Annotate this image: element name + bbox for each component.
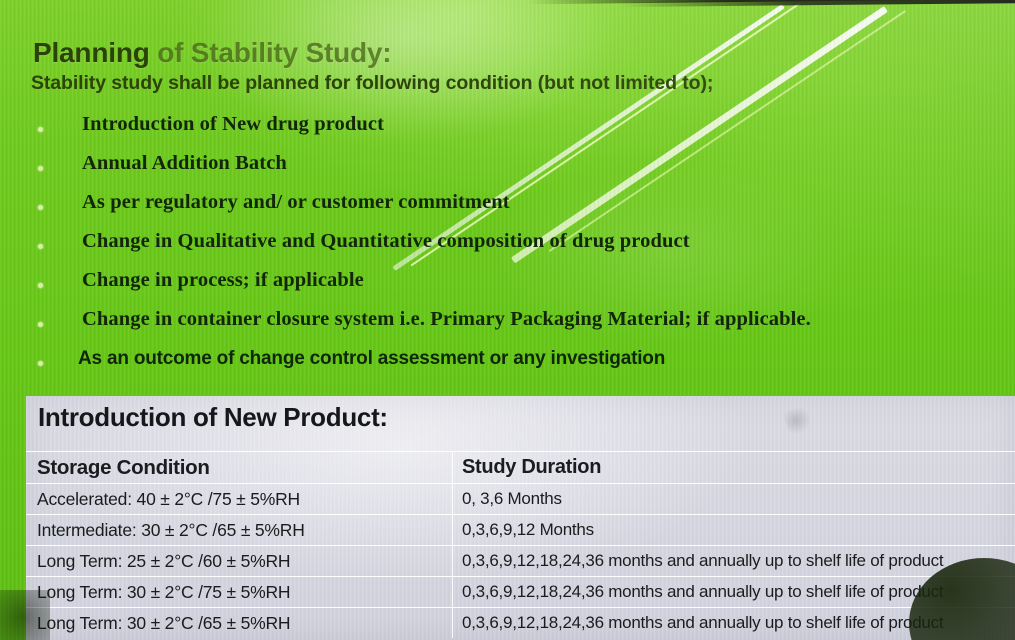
column-header-storage-condition: Storage Condition	[26, 452, 452, 483]
slide-title: Planning of Stability Study:	[33, 37, 391, 69]
cell-storage-condition: Intermediate: 30 ± 2°C /65 ± 5%RH	[26, 515, 452, 545]
list-item: Annual Addition Batch	[30, 149, 990, 188]
bullet-label: Introduction of New drug product	[82, 113, 384, 136]
bullet-label: Change in process; if applicable	[82, 269, 364, 292]
bullet-dot-icon	[38, 283, 43, 288]
list-item: As per regulatory and/ or customer commi…	[30, 188, 990, 227]
cell-storage-condition: Long Term: 25 ± 2°C /60 ± 5%RH	[26, 546, 452, 576]
table-row: Intermediate: 30 ± 2°C /65 ± 5%RH 0,3,6,…	[26, 514, 1015, 545]
bullet-dot-icon	[38, 322, 43, 327]
cell-study-duration: 0,3,6,9,12 Months	[452, 515, 1015, 545]
bullet-dot-icon	[38, 361, 43, 366]
cell-storage-condition: Long Term: 30 ± 2°C /65 ± 5%RH	[26, 608, 452, 638]
cell-storage-condition: Accelerated: 40 ± 2°C /75 ± 5%RH	[26, 484, 452, 514]
stability-table: Storage Condition Study Duration Acceler…	[26, 451, 1015, 640]
bullet-dot-icon	[38, 166, 43, 171]
introduction-panel: Introduction of New Product: Storage Con…	[26, 396, 1015, 640]
list-item: Introduction of New drug product	[30, 110, 990, 149]
cell-study-duration: 0,3,6,9,12,18,24,36 months and annually …	[452, 577, 1015, 607]
bullet-label: Annual Addition Batch	[82, 152, 287, 175]
bullet-label: Change in Qualitative and Quantitative c…	[82, 230, 690, 253]
cell-study-duration: 0,3,6,9,12,18,24,36 months and annually …	[452, 546, 1015, 576]
bullet-dot-icon	[38, 205, 43, 210]
column-header-study-duration: Study Duration	[452, 452, 1015, 483]
photo-smudge-artifact	[783, 405, 815, 437]
table-header-row: Storage Condition Study Duration	[26, 451, 1015, 483]
bullet-dot-icon	[38, 244, 43, 249]
panel-title: Introduction of New Product:	[38, 402, 388, 433]
bullet-label: Change in container closure system i.e. …	[82, 308, 811, 331]
table-row: Long Term: 25 ± 2°C /60 ± 5%RH 0,3,6,9,1…	[26, 545, 1015, 576]
projected-slide-photo: Planning of Stability Study: Stability s…	[0, 0, 1015, 640]
list-item: Change in process; if applicable	[30, 266, 990, 305]
cell-study-duration: 0, 3,6 Months	[452, 484, 1015, 514]
slide-subtitle: Stability study shall be planned for fol…	[31, 72, 713, 95]
table-row: Long Term: 30 ± 2°C /65 ± 5%RH 0,3,6,9,1…	[26, 607, 1015, 638]
slide-title-strong: Planning	[33, 37, 150, 68]
slide-title-rest: of Stability Study:	[150, 37, 392, 68]
table-row: Accelerated: 40 ± 2°C /75 ± 5%RH 0, 3,6 …	[26, 483, 1015, 514]
table-row: Long Term: 30 ± 2°C /75 ± 5%RH 0,3,6,9,1…	[26, 576, 1015, 607]
cell-storage-condition: Long Term: 30 ± 2°C /75 ± 5%RH	[26, 577, 452, 607]
list-item: As an outcome of change control assessme…	[30, 344, 990, 383]
cell-study-duration: 0,3,6,9,12,18,24,36 months and annually …	[452, 608, 1015, 638]
list-item: Change in Qualitative and Quantitative c…	[30, 227, 990, 266]
bullet-dot-icon	[38, 127, 43, 132]
list-item: Change in container closure system i.e. …	[30, 305, 990, 344]
bullet-label: As an outcome of change control assessme…	[78, 348, 665, 370]
bullet-list: Introduction of New drug product Annual …	[30, 110, 990, 383]
bullet-label: As per regulatory and/ or customer commi…	[82, 191, 510, 214]
